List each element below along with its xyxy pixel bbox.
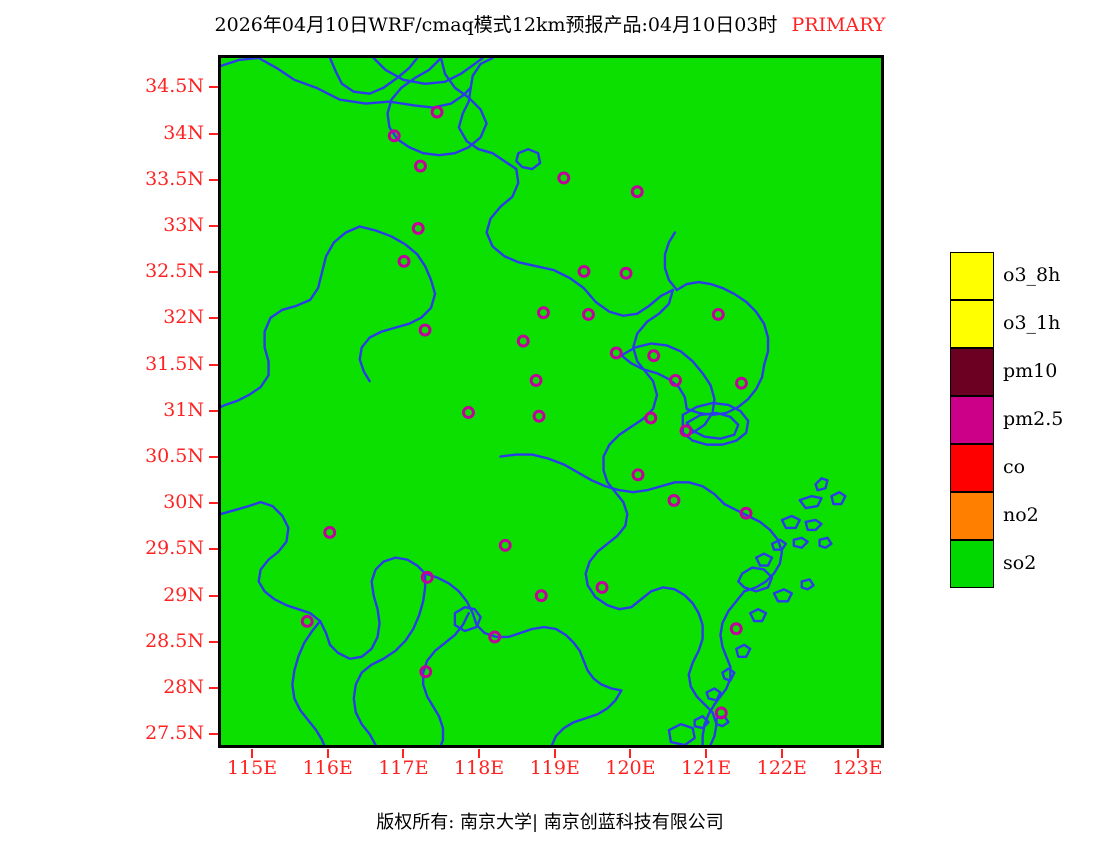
station-marker[interactable] [716,708,726,718]
station-marker[interactable] [518,336,528,346]
legend-label-pm10: pm10 [1003,360,1057,382]
legend-label-co: co [1003,456,1025,478]
x-axis-label: 121E [666,757,746,779]
station-marker[interactable] [420,325,430,335]
station-marker[interactable] [669,495,679,505]
y-axis-label: 28N [118,676,204,698]
station-marker[interactable] [389,131,399,141]
y-axis-label: 33N [118,214,204,236]
legend-label-pm2-5: pm2.5 [1003,408,1063,430]
station-marker[interactable] [500,540,510,550]
map-plot-area [218,55,884,748]
x-axis-label: 118E [439,757,519,779]
station-marker[interactable] [741,508,751,518]
y-axis-tick [209,410,218,412]
x-axis-label: 123E [818,757,898,779]
station-marker[interactable] [399,256,409,266]
station-marker[interactable] [646,413,656,423]
y-axis-tick [209,364,218,366]
y-axis-tick [209,687,218,689]
legend-label-o3-1h: o3_1h [1003,312,1060,334]
y-axis-label: 29.5N [118,537,204,559]
station-marker[interactable] [621,268,631,278]
y-axis-label: 28.5N [118,630,204,652]
y-axis-tick [209,502,218,504]
station-marker[interactable] [633,470,643,480]
station-marker[interactable] [671,375,681,385]
station-marker[interactable] [611,348,621,358]
y-axis-label: 34N [118,122,204,144]
station-marker[interactable] [490,632,500,642]
chart-title: 2026年04月10日WRF/cmaq模式12km预报产品:04月10日03时P… [0,10,1100,37]
station-marker[interactable] [536,591,546,601]
station-marker[interactable] [421,667,431,677]
y-axis-tick [209,548,218,550]
legend-label-o3-8h: o3_8h [1003,264,1060,286]
station-marker[interactable] [649,351,659,361]
station-marker[interactable] [531,375,541,385]
station-marker[interactable] [584,310,594,320]
station-marker[interactable] [416,161,426,171]
legend-label-so2: so2 [1003,552,1036,574]
station-marker[interactable] [597,583,607,593]
x-axis-label: 115E [212,757,292,779]
station-marker[interactable] [559,173,569,183]
x-axis-label: 120E [590,757,670,779]
y-axis-label: 32.5N [118,260,204,282]
y-axis-tick [209,595,218,597]
x-axis-label: 117E [363,757,443,779]
y-axis-label: 34.5N [118,75,204,97]
y-axis-tick [209,641,218,643]
legend-swatch-no2 [950,492,994,540]
y-axis-label: 33.5N [118,168,204,190]
title-main-text: 2026年04月10日WRF/cmaq模式12km预报产品:04月10日03时 [215,14,778,36]
y-axis-tick [209,225,218,227]
legend-swatch-pm10 [950,348,994,396]
legend-swatch-pm2-5 [950,396,994,444]
y-axis-label: 27.5N [118,722,204,744]
y-axis-tick [209,133,218,135]
y-axis-label: 29N [118,584,204,606]
y-axis-label: 31N [118,399,204,421]
y-axis-tick [209,317,218,319]
x-axis-label: 119E [515,757,595,779]
y-axis-tick [209,179,218,181]
station-marker[interactable] [737,378,747,388]
station-marker[interactable] [681,426,691,436]
station-marker[interactable] [713,310,723,320]
y-axis-tick [209,456,218,458]
y-axis-tick [209,86,218,88]
legend-swatch-so2 [950,540,994,588]
station-marker[interactable] [302,616,312,626]
station-marker[interactable] [731,624,741,634]
station-marker[interactable] [534,411,544,421]
station-marker[interactable] [579,266,589,276]
legend-swatch-o3-8h [950,252,994,300]
y-axis-label: 31.5N [118,353,204,375]
y-axis-tick [209,271,218,273]
title-primary-label: PRIMARY [791,14,885,36]
x-axis-label: 122E [742,757,822,779]
station-marker[interactable] [632,187,642,197]
legend-swatch-co [950,444,994,492]
station-marker[interactable] [325,527,335,537]
station-marker[interactable] [463,408,473,418]
y-axis-tick [209,733,218,735]
copyright-footer: 版权所有: 南京大学| 南京创蓝科技有限公司 [0,808,1100,834]
station-marker[interactable] [432,107,442,117]
y-axis-label: 30.5N [118,445,204,467]
x-axis-label: 116E [288,757,368,779]
y-axis-label: 32N [118,306,204,328]
y-axis-label: 30N [118,491,204,513]
station-marker[interactable] [539,308,549,318]
station-marker-layer [221,58,881,745]
legend-label-no2: no2 [1003,504,1039,526]
legend-swatch-o3-1h [950,300,994,348]
station-marker[interactable] [413,223,423,233]
station-marker[interactable] [422,572,432,582]
